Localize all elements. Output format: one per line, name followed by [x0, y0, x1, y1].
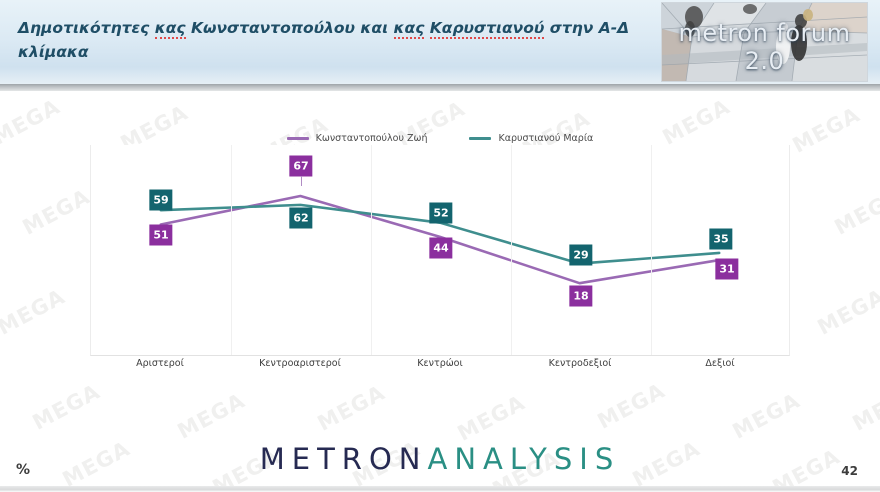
- data-label-konstantopoulou-Αριστεροί: 51: [149, 224, 172, 245]
- chart-gridline: [651, 145, 652, 355]
- data-label-konstantopoulou-Κεντρώοι: 44: [429, 238, 452, 259]
- page-title-line2: κλίμακα: [18, 43, 89, 61]
- watermark-mega: MEGA: [729, 388, 804, 443]
- data-label-leader-line: [301, 176, 302, 186]
- metron-forum-logo: metron forum 2.0: [661, 2, 868, 82]
- data-label-konstantopoulou-Κεντροαριστεροί: 67: [289, 156, 312, 177]
- legend-swatch-karystianou: [469, 137, 491, 140]
- header-divider: [0, 84, 880, 91]
- x-axis-tick-Κεντροαριστεροί: Κεντροαριστεροί: [230, 358, 370, 378]
- data-label-karystianou-Κεντρώοι: 52: [429, 203, 452, 224]
- brand-metron: METRON: [260, 442, 428, 476]
- x-axis-tick-Δεξιοί: Δεξιοί: [650, 358, 790, 378]
- legend-item-karystianou[interactable]: Καρυστιανού Μαρία: [469, 133, 593, 144]
- watermark-mega: MEGA: [849, 380, 880, 435]
- page-title: Δημοτικότητες κας Κωνσταντοπούλου και κα…: [18, 17, 638, 64]
- data-label-konstantopoulou-Κεντροδεξιοί: 18: [569, 285, 592, 306]
- page-number: 42: [841, 464, 858, 478]
- chart-gridline: [371, 145, 372, 355]
- watermark-mega: MEGA: [174, 388, 249, 443]
- legend-label-konstantopoulou: Κωνσταντοπούλου Ζωή: [316, 133, 428, 144]
- chart-legend: Κωνσταντοπούλου Ζωή Καρυστιανού Μαρία: [0, 130, 880, 146]
- page-title-line1: Δημοτικότητες κας Κωνσταντοπούλου και κα…: [18, 19, 629, 39]
- legend-item-konstantopoulou[interactable]: Κωνσταντοπούλου Ζωή: [287, 133, 428, 144]
- x-axis-tick-Αριστεροί: Αριστεροί: [90, 358, 230, 378]
- logo-text: metron forum 2.0: [662, 19, 867, 75]
- data-label-karystianou-Κεντροαριστεροί: 62: [289, 208, 312, 229]
- metron-analysis-brand: METRONANALYSIS: [0, 440, 880, 478]
- legend-label-karystianou: Καρυστιανού Μαρία: [498, 133, 593, 144]
- footer-divider: [0, 486, 880, 492]
- chart-gridline: [511, 145, 512, 355]
- x-axis-labels: ΑριστεροίΚεντροαριστεροίΚεντρώοιΚεντροδε…: [90, 358, 790, 378]
- unit-percent-label: %: [16, 462, 30, 478]
- watermark-mega: MEGA: [314, 380, 389, 435]
- x-axis-tick-Κεντροδεξιοί: Κεντροδεξιοί: [510, 358, 650, 378]
- watermark-mega: MEGA: [594, 378, 669, 433]
- data-label-karystianou-Δεξιοί: 35: [709, 229, 732, 250]
- chart-container: Κωνσταντοπούλου Ζωή Καρυστιανού Μαρία 59…: [0, 86, 880, 386]
- data-label-konstantopoulou-Δεξιοί: 31: [715, 258, 738, 279]
- x-axis-tick-Κεντρώοι: Κεντρώοι: [370, 358, 510, 378]
- plot-area: 59516762524429183531: [90, 145, 790, 356]
- legend-swatch-konstantopoulou: [287, 137, 309, 140]
- chart-gridline: [231, 145, 232, 355]
- watermark-mega: MEGA: [29, 379, 104, 434]
- data-label-karystianou-Αριστεροί: 59: [149, 189, 172, 210]
- data-label-karystianou-Κεντροδεξιοί: 29: [569, 245, 592, 266]
- watermark-mega: MEGA: [454, 390, 529, 445]
- brand-analysis: ANALYSIS: [427, 442, 620, 476]
